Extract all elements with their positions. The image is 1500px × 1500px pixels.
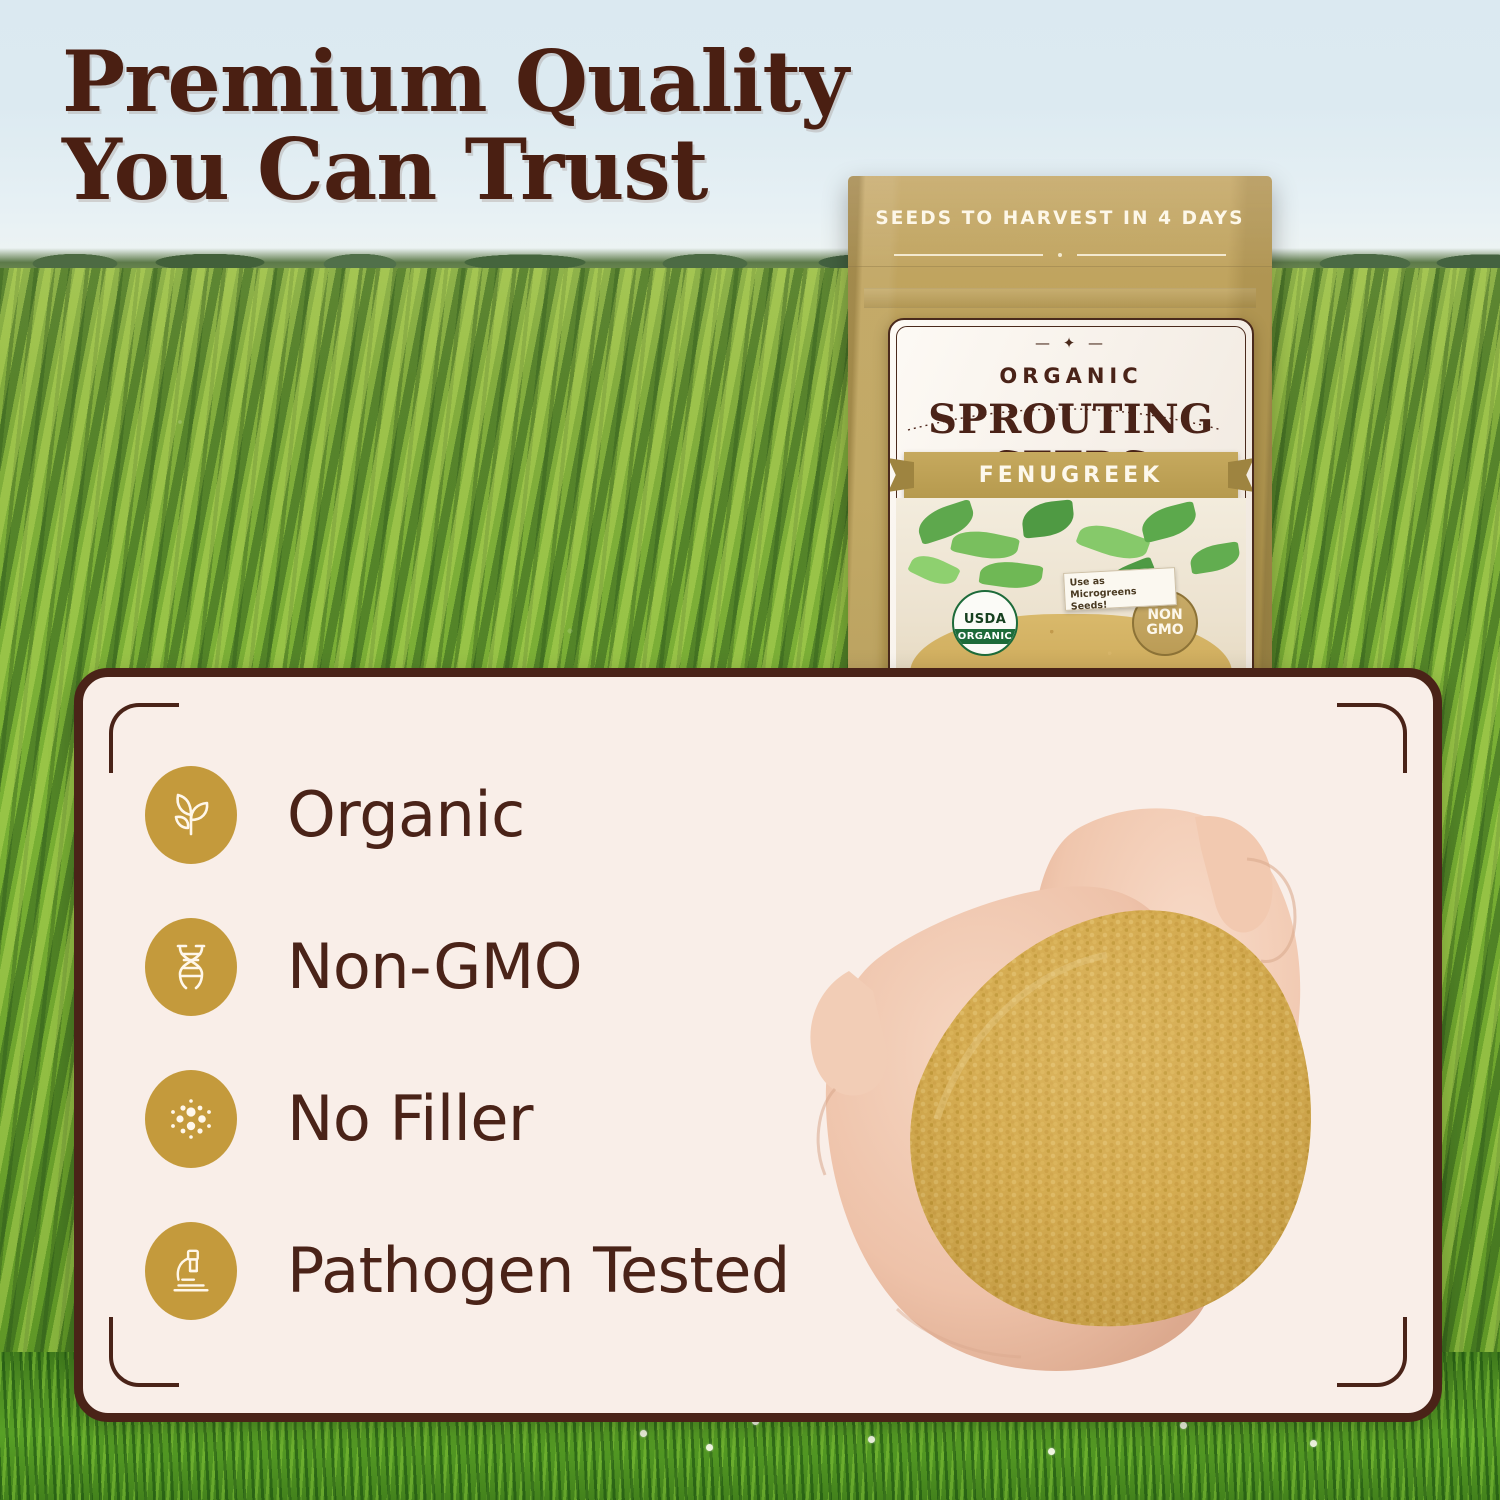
feature-row-no-filler: No Filler xyxy=(145,1043,935,1195)
feature-label: Non-GMO xyxy=(287,936,582,998)
corner-flourish-top-right xyxy=(1337,703,1407,773)
product-infographic: Premium Quality You Can Trust SEEDS TO H… xyxy=(0,0,1500,1500)
feature-list: Organic Non-GMO xyxy=(145,739,935,1347)
feature-row-non-gmo: Non-GMO xyxy=(145,891,935,1043)
headline-line-1: Premium Quality xyxy=(62,32,848,131)
label-variety-text: FENUGREEK xyxy=(904,463,1238,488)
feature-row-pathogen-tested: Pathogen Tested xyxy=(145,1195,935,1347)
package-divider-rule xyxy=(894,254,1226,256)
dna-icon xyxy=(145,918,237,1016)
package-label: — ✦ — ORGANIC SPROUTING SEEDS FENUGREEK xyxy=(888,318,1254,720)
feature-row-organic: Organic xyxy=(145,739,935,891)
particles-icon xyxy=(145,1070,237,1168)
feature-label: Organic xyxy=(287,784,525,846)
label-variety-ribbon: FENUGREEK xyxy=(904,452,1238,498)
headline-line-2: You Can Trust xyxy=(62,130,892,210)
usda-organic-badge: USDA ORGANIC xyxy=(952,590,1018,656)
microscope-icon xyxy=(145,1222,237,1320)
label-ornament-icon: — ✦ — xyxy=(890,334,1252,352)
feature-label: Pathogen Tested xyxy=(287,1240,790,1302)
package-top-claim: SEEDS TO HARVEST IN 4 DAYS xyxy=(848,208,1272,229)
sprout-icon xyxy=(145,766,237,864)
microgreens-sticker: Use as Microgreens Seeds! xyxy=(1063,567,1177,611)
page-title: Premium Quality You Can Trust xyxy=(62,42,892,210)
package-zipper xyxy=(864,288,1256,308)
features-card: Organic Non-GMO xyxy=(74,668,1442,1422)
feature-label: No Filler xyxy=(287,1088,533,1150)
